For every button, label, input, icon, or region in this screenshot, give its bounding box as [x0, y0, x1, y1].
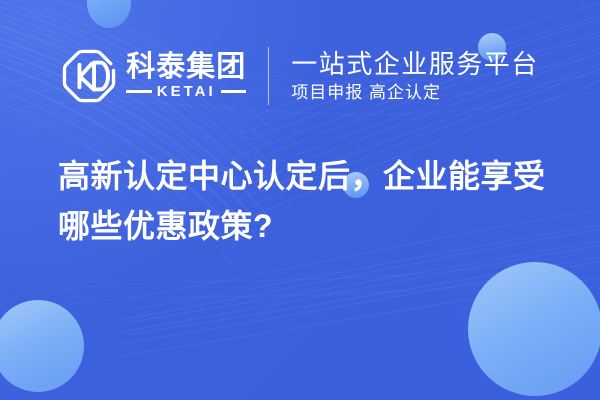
headline-line-2: 哪些优惠政策?	[58, 202, 558, 252]
brand-name-cn: 科泰集团	[126, 53, 246, 82]
promo-banner: 科泰集团 KETAI 一站式企业服务平台 项目申报 高企认定 高新认定中心认定后…	[0, 0, 600, 400]
brand-logo: 科泰集团 KETAI	[61, 48, 246, 104]
headline-line-1: 高新认定中心认定后，企业能享受	[58, 152, 558, 202]
brand-name-en: KETAI	[157, 84, 216, 99]
tagline-sub: 项目申报 高企认定	[291, 83, 539, 103]
banner-header: 科泰集团 KETAI 一站式企业服务平台 项目申报 高企认定	[0, 40, 600, 112]
decor-circle-top-left	[87, 0, 131, 28]
page-title: 高新认定中心认定后，企业能享受 哪些优惠政策?	[58, 152, 558, 251]
decor-circle-bottom-left	[0, 300, 84, 392]
wordmark-rule-right	[221, 90, 247, 93]
brand-tagline: 一站式企业服务平台 项目申报 高企认定	[291, 50, 539, 102]
tagline-main: 一站式企业服务平台	[291, 50, 539, 79]
ketai-diamond-monogram-icon	[61, 48, 117, 104]
brand-name-en-row: KETAI	[126, 84, 246, 99]
header-divider	[268, 47, 269, 105]
brand-wordmark: 科泰集团 KETAI	[126, 53, 246, 99]
decor-circle-bottom-right	[468, 262, 600, 396]
wordmark-rule-left	[126, 90, 152, 93]
